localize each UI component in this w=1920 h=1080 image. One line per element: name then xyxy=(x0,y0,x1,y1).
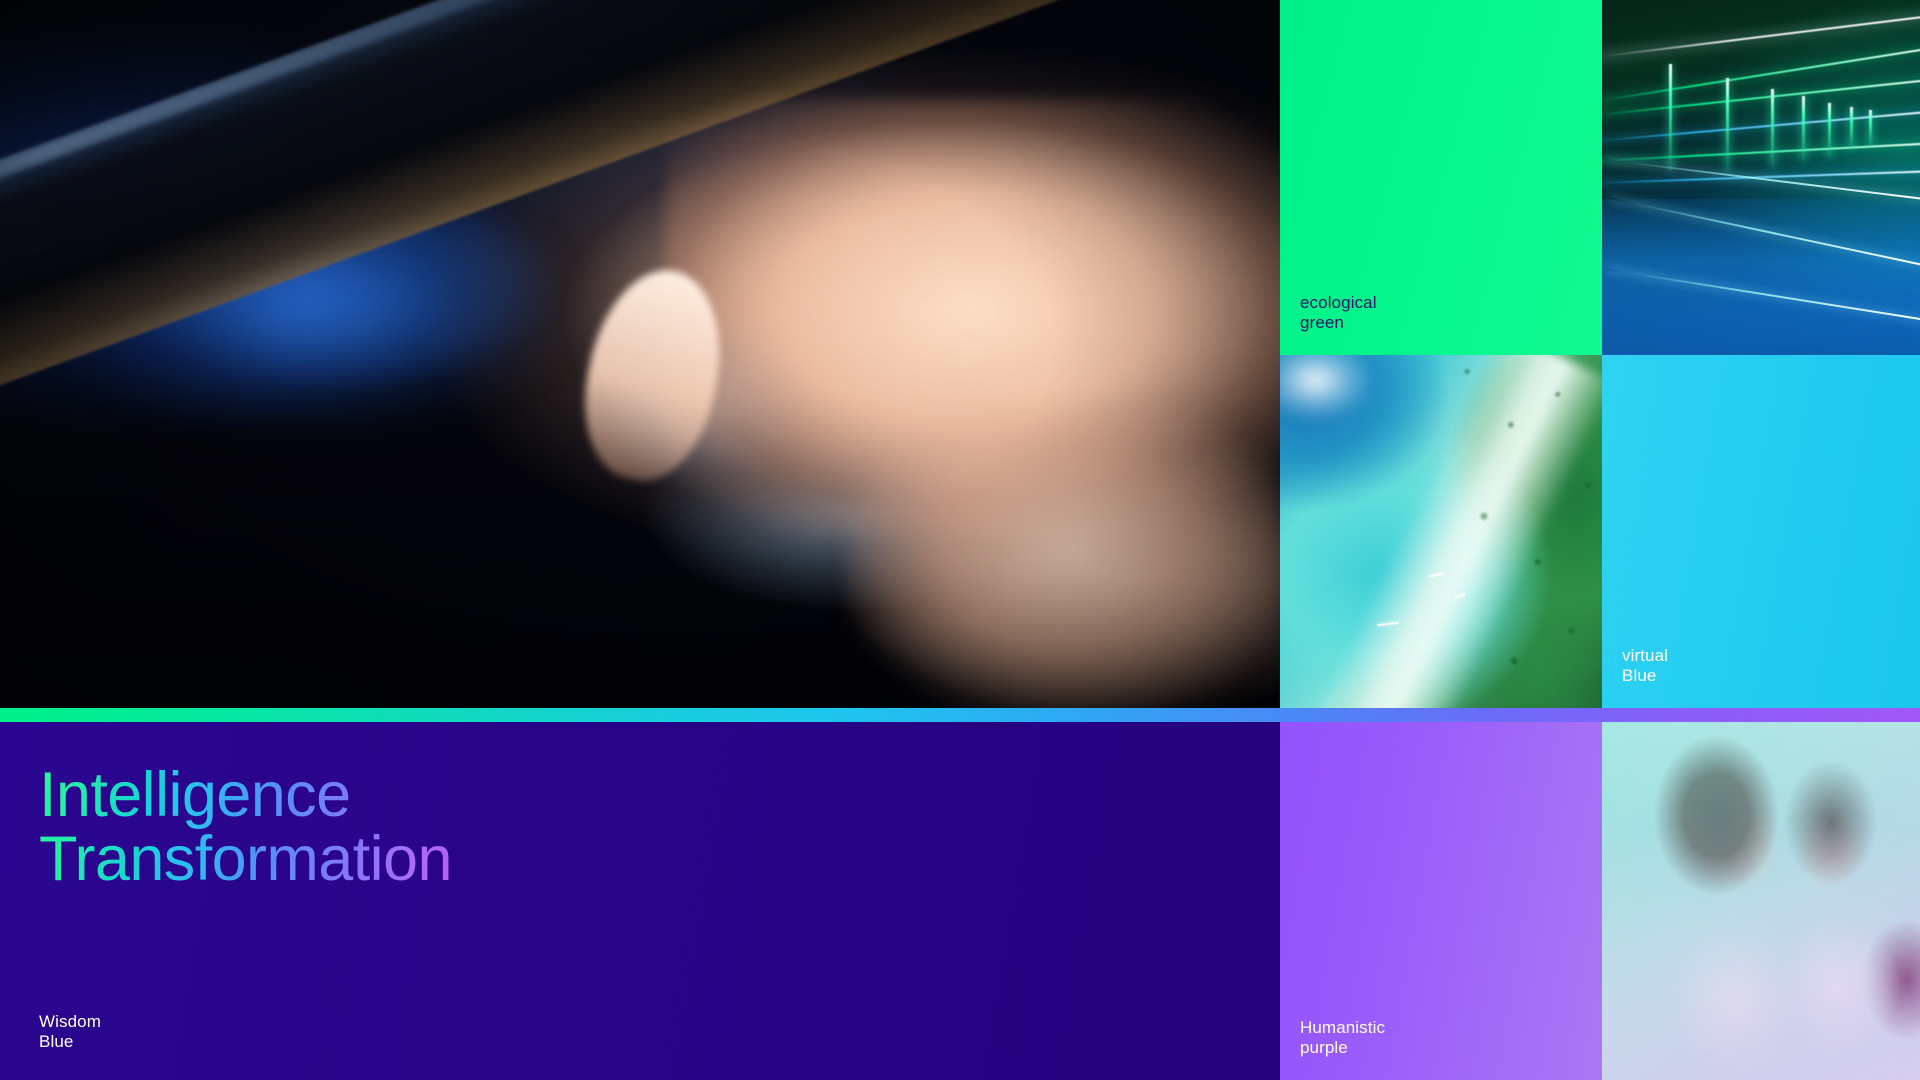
tunnel-rib-light xyxy=(1802,96,1805,160)
swatch-label-humanistic-purple: Humanistic purple xyxy=(1300,1018,1385,1058)
tunnel-rib-light xyxy=(1828,103,1831,156)
tunnel-rib-light xyxy=(1669,64,1672,171)
family-duotone-highlight-tint xyxy=(1602,722,1920,1080)
tunnel-rib-light xyxy=(1726,78,1729,170)
swatch-label-virtual-blue: virtual Blue xyxy=(1622,646,1668,686)
tunnel-rib-light xyxy=(1869,110,1872,146)
hero-image-hand-tablet xyxy=(0,0,1280,708)
photo-mother-and-daughter xyxy=(1602,722,1920,1080)
beach-surf-foam xyxy=(1280,355,1370,419)
beach-forest-canopy xyxy=(1447,355,1602,708)
title-panel-wisdom-blue: Intelligence Transformation Wisdom Blue xyxy=(0,722,1280,1080)
swatch-virtual-blue: virtual Blue xyxy=(1602,355,1920,708)
tunnel-rib-light xyxy=(1850,107,1853,150)
gradient-divider-bar xyxy=(0,708,1920,722)
photo-neon-tunnel xyxy=(1602,0,1920,355)
tunnel-rib-light xyxy=(1771,89,1774,167)
photo-aerial-coastline xyxy=(1280,355,1602,708)
page-title: Intelligence Transformation xyxy=(39,763,452,892)
swatch-label-wisdom-blue: Wisdom Blue xyxy=(39,1012,101,1052)
hero-vignette xyxy=(0,0,1280,708)
swatch-ecological-green: ecological green xyxy=(1280,0,1602,355)
poster-canvas: ecological green virtual Blue xyxy=(0,0,1920,1080)
swatch-humanistic-purple: Humanistic purple xyxy=(1280,722,1602,1080)
swatch-label-ecological-green: ecological green xyxy=(1300,293,1377,333)
